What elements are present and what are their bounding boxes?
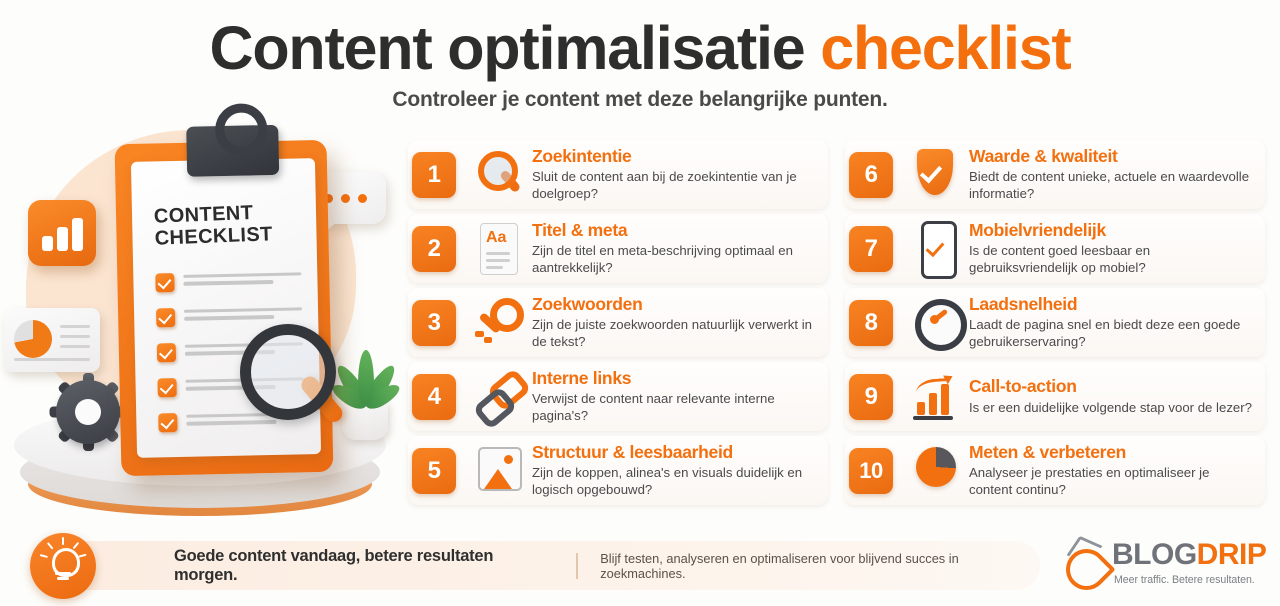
plant-leaf bbox=[358, 350, 374, 406]
item-title: Meten & verbeteren bbox=[969, 443, 1255, 463]
checkbox-checked bbox=[158, 413, 177, 432]
lightbulb-icon bbox=[30, 533, 96, 599]
item-description: Zijn de titel en meta-beschrijving optim… bbox=[532, 242, 818, 276]
checklist-column-left: 1 Zoekintentie Sluit de content aan bij … bbox=[408, 140, 828, 510]
checklist-item-10[interactable]: 10 Meten & verbeteren Analyseer je prest… bbox=[845, 436, 1265, 505]
item-title: Mobielvriendelijk bbox=[969, 221, 1255, 241]
item-description: Biedt de content unieke, actuele en waar… bbox=[969, 168, 1255, 202]
item-description: Analyseer je prestaties en optimaliseer … bbox=[969, 464, 1255, 498]
magnifier-icon bbox=[466, 145, 528, 205]
clipboard-title: CONTENT CHECKLIST bbox=[153, 201, 305, 250]
pie-card-icon bbox=[4, 308, 100, 372]
key-icon bbox=[466, 293, 528, 353]
title-dark-part: Content optimalisatie bbox=[209, 14, 820, 82]
item-number-badge: 8 bbox=[849, 300, 893, 346]
page-subtitle: Controleer je content met deze belangrij… bbox=[0, 88, 1280, 112]
checklist-item-1[interactable]: 1 Zoekintentie Sluit de content aan bij … bbox=[408, 140, 828, 209]
item-description: Is de content goed leesbaar en gebruiksv… bbox=[969, 242, 1255, 276]
checkbox-checked bbox=[156, 308, 175, 327]
item-number-badge: 9 bbox=[849, 374, 893, 420]
item-number-badge: 2 bbox=[412, 226, 456, 272]
magnifier-icon bbox=[240, 324, 328, 412]
page-title: Content optimalisatie checklist bbox=[0, 0, 1280, 80]
infographic-canvas: Content optimalisatie checklist Controle… bbox=[0, 0, 1280, 606]
growth-chart-icon bbox=[903, 367, 965, 427]
clipboard: CONTENT CHECKLIST bbox=[115, 140, 334, 476]
item-number-badge: 10 bbox=[849, 448, 893, 494]
checklist-column-right: 6 Waarde & kwaliteit Biedt de content un… bbox=[845, 140, 1265, 510]
item-description: Sluit de content aan bij de zoekintentie… bbox=[532, 168, 818, 202]
chain-link-icon bbox=[466, 367, 528, 427]
checklist-item-8[interactable]: 8 Laadsnelheid Laadt de pagina snel en b… bbox=[845, 288, 1265, 357]
item-description: Is er een duidelijke volgende stap voor … bbox=[969, 399, 1255, 416]
shield-check-icon bbox=[903, 145, 965, 205]
checklist-item-2[interactable]: 2 Aa Titel & meta Zijn de titel en meta-… bbox=[408, 214, 828, 283]
document-aa-icon: Aa bbox=[466, 219, 528, 279]
item-number-badge: 3 bbox=[412, 300, 456, 346]
item-title: Waarde & kwaliteit bbox=[969, 147, 1255, 167]
header: Content optimalisatie checklist Controle… bbox=[0, 0, 1280, 112]
brand-name: BLOGDRIP bbox=[1112, 538, 1266, 572]
item-description: Verwijst de content naar relevante inter… bbox=[532, 390, 818, 424]
plant-icon bbox=[328, 330, 400, 440]
footer-subline: Blijf testen, analyseren en optimalisere… bbox=[600, 551, 1040, 581]
brand-name-orange: DRIP bbox=[1197, 538, 1267, 571]
brand-name-gray: BLOG bbox=[1112, 538, 1197, 571]
item-number-badge: 1 bbox=[412, 152, 456, 198]
item-number-badge: 6 bbox=[849, 152, 893, 198]
item-number-badge: 4 bbox=[412, 374, 456, 420]
checkbox-checked bbox=[157, 343, 176, 362]
checkbox-checked bbox=[157, 378, 176, 397]
item-description: Zijn de juiste zoekwoorden natuurlijk ve… bbox=[532, 316, 818, 350]
item-number-badge: 5 bbox=[412, 448, 456, 494]
brand-tagline: Meer traffic. Betere resultaten. bbox=[1114, 574, 1255, 586]
item-title: Zoekintentie bbox=[532, 147, 818, 167]
drop-logo-icon bbox=[1064, 539, 1104, 587]
title-accent-part: checklist bbox=[820, 14, 1070, 82]
item-number-badge: 7 bbox=[849, 226, 893, 272]
item-title: Call-to-action bbox=[969, 377, 1255, 397]
item-title: Titel & meta bbox=[532, 221, 818, 241]
image-icon bbox=[466, 441, 528, 501]
speedometer-icon bbox=[903, 293, 965, 353]
checklist-item-7[interactable]: 7 Mobielvriendelijk Is de content goed l… bbox=[845, 214, 1265, 283]
checklist-item-4[interactable]: 4 Interne links Verwijst de content naar… bbox=[408, 362, 828, 431]
footer-bar: Goede content vandaag, betere resultaten… bbox=[62, 541, 1040, 590]
brand-logo[interactable]: BLOGDRIP Meer traffic. Betere resultaten… bbox=[1062, 533, 1267, 597]
bar-chart-box-icon bbox=[28, 200, 96, 266]
checklist-item-6[interactable]: 6 Waarde & kwaliteit Biedt de content un… bbox=[845, 140, 1265, 209]
item-title: Zoekwoorden bbox=[532, 295, 818, 315]
item-description: Zijn de koppen, alinea's en visuals duid… bbox=[532, 464, 818, 498]
item-title: Interne links bbox=[532, 369, 818, 389]
footer-divider bbox=[576, 553, 578, 579]
item-title: Structuur & leesbaarheid bbox=[532, 443, 818, 463]
clipboard-clip bbox=[186, 125, 279, 177]
checklist-item-9[interactable]: 9 Call-to-action Is er een duidelijke vo… bbox=[845, 362, 1265, 431]
pie-chart-icon bbox=[903, 441, 965, 501]
checklist-item-5[interactable]: 5 Structuur & leesbaarheid Zijn de koppe… bbox=[408, 436, 828, 505]
item-description: Laadt de pagina snel en biedt deze een g… bbox=[969, 316, 1255, 350]
pie-slice-graphic bbox=[14, 320, 52, 358]
checkbox-checked bbox=[155, 273, 174, 292]
item-title: Laadsnelheid bbox=[969, 295, 1255, 315]
footer-headline: Goede content vandaag, betere resultaten… bbox=[174, 547, 554, 585]
clipboard-illustration: CONTENT CHECKLIST bbox=[8, 112, 408, 532]
gear-icon bbox=[56, 380, 120, 444]
checklist-item-3[interactable]: 3 Zoekwoorden Zijn de juiste zoekwoorden… bbox=[408, 288, 828, 357]
mobile-phone-icon bbox=[903, 219, 965, 279]
